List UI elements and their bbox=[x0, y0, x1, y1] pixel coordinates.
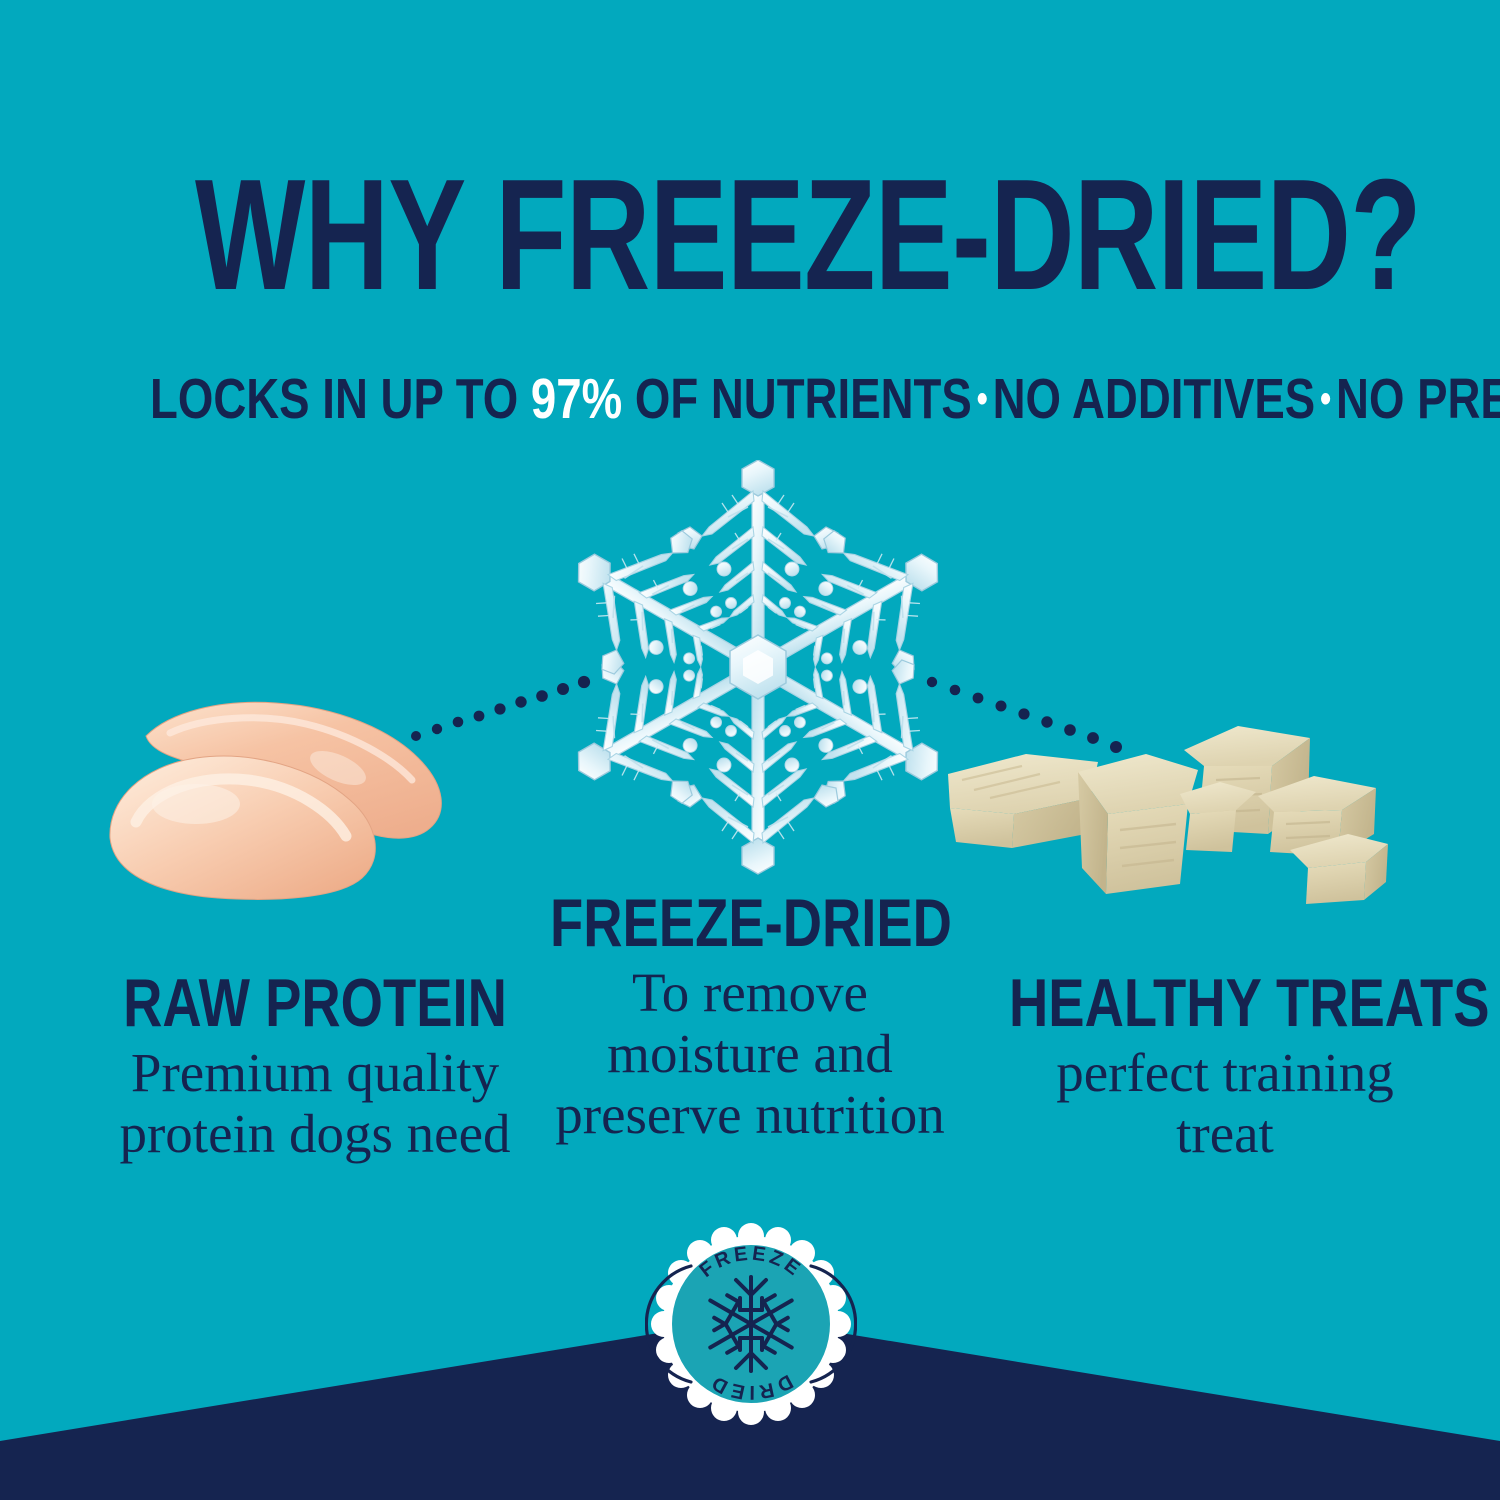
feature-title-freeze-dried: FREEZE-DRIED bbox=[550, 888, 950, 958]
feature-body-line: perfect training bbox=[955, 1042, 1495, 1103]
feature-column-freeze-dried: FREEZE-DRIED To remove moisture and pres… bbox=[500, 888, 1000, 1145]
bullet-separator-icon: • bbox=[1315, 377, 1336, 421]
feature-body-line: treat bbox=[955, 1103, 1495, 1164]
bullet-separator-icon: • bbox=[972, 377, 993, 421]
snowflake-crystal-icon bbox=[548, 460, 968, 875]
feature-column-healthy-treats: HEALTHY TREATS perfect training treat bbox=[955, 968, 1495, 1164]
feature-title-healthy-treats: HEALTHY TREATS bbox=[1009, 968, 1441, 1038]
subtitle-percent-value: 97% bbox=[531, 367, 622, 431]
subtitle-no-preservatives: NO PRESERVATIVES bbox=[1336, 367, 1500, 431]
subtitle-part-nutrients: OF NUTRIENTS bbox=[622, 367, 972, 431]
chicken-treat-chunks-icon bbox=[930, 662, 1390, 912]
feature-body-healthy-treats: perfect training treat bbox=[955, 1042, 1495, 1164]
raw-chicken-icon bbox=[100, 672, 500, 902]
feature-body-line: To remove bbox=[500, 962, 1000, 1023]
feature-body-line: preserve nutrition bbox=[500, 1084, 1000, 1145]
feature-body-freeze-dried: To remove moisture and preserve nutritio… bbox=[500, 962, 1000, 1145]
feature-title-raw-protein: RAW PROTEIN bbox=[91, 968, 539, 1038]
page-title: WHY FREEZE-DRIED? bbox=[195, 160, 1305, 310]
subtitle-no-additives: NO ADDITIVES bbox=[993, 367, 1316, 431]
infographic-poster: WHY FREEZE-DRIED? LOCKS IN UP TO 97% OF … bbox=[0, 0, 1500, 1500]
subtitle-benefits: LOCKS IN UP TO 97% OF NUTRIENTS•NO ADDIT… bbox=[150, 368, 1350, 430]
feature-body-line: moisture and bbox=[500, 1023, 1000, 1084]
freeze-dried-seal-badge: FREEZE DRIED bbox=[645, 1218, 857, 1430]
subtitle-part-locks-in: LOCKS IN UP TO bbox=[150, 367, 531, 431]
